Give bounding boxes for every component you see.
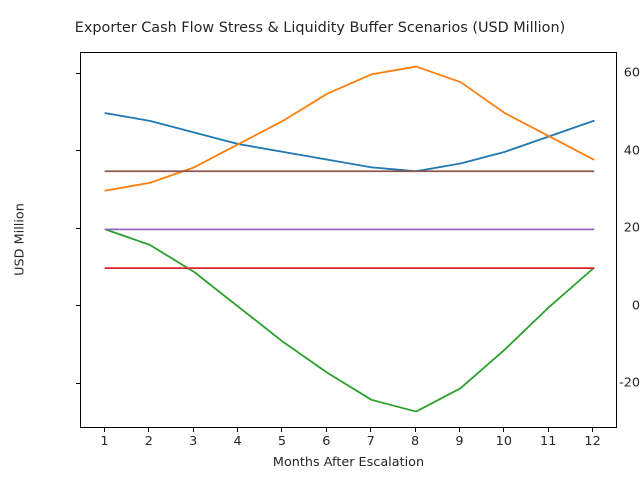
x-tick-label: 7 <box>367 434 375 449</box>
plot-area <box>80 52 617 428</box>
x-tick-label: 9 <box>455 434 463 449</box>
x-axis-label: Months After Escalation <box>80 455 617 470</box>
x-tick-label: 1 <box>100 434 108 449</box>
chart-figure: Exporter Cash Flow Stress & Liquidity Bu… <box>0 0 640 480</box>
x-tick-label: 8 <box>411 434 419 449</box>
y-axis-label: USD Million <box>13 52 28 428</box>
x-tick-label: 2 <box>145 434 153 449</box>
x-tick-label: 3 <box>189 434 197 449</box>
chart-title: Exporter Cash Flow Stress & Liquidity Bu… <box>0 20 640 36</box>
x-tick-label: 12 <box>584 434 600 449</box>
x-tick-label: 5 <box>278 434 286 449</box>
plot-lines <box>81 53 618 429</box>
x-tick-label: 10 <box>496 434 512 449</box>
x-tick-label: 4 <box>233 434 241 449</box>
x-tick-label: 11 <box>540 434 556 449</box>
line-series-3 <box>105 229 593 411</box>
x-tick-label: 6 <box>322 434 330 449</box>
